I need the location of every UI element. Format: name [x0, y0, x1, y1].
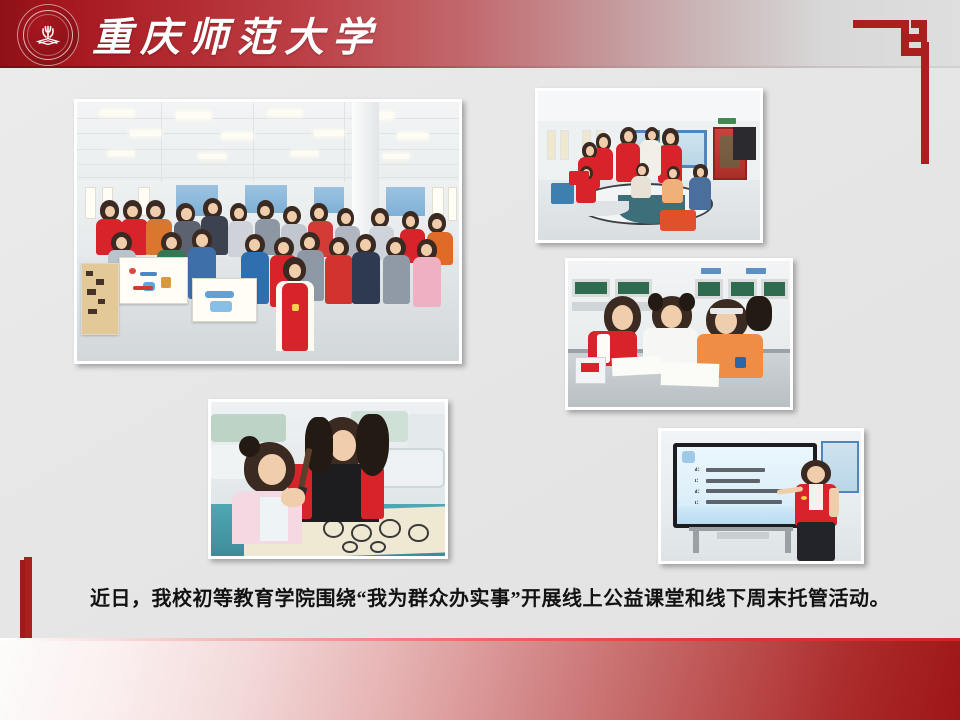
photo-classroom-roundtable-photo: [535, 88, 763, 243]
footer-band: [0, 638, 960, 720]
university-wordmark: 重庆师范大学: [92, 2, 380, 66]
slide-root: 重庆师范大学: [0, 0, 960, 720]
footer-gradient: [0, 641, 960, 720]
photo-calligraphy-photo: [208, 399, 448, 559]
slide-caption: 近日，我校初等教育学院围绕“我为群众办实事”开展线上公益课堂和线下周末托管活动。: [60, 582, 920, 611]
photo-tutoring-photo: [565, 258, 793, 410]
slide-header: 重庆师范大学: [0, 0, 960, 68]
photo-smartboard-lesson-photo: d： t： d： t：: [658, 428, 864, 564]
corner-ornament-top-right-icon: [853, 12, 937, 169]
photo-group-photo: [74, 99, 462, 364]
university-seal-icon: [17, 4, 79, 66]
